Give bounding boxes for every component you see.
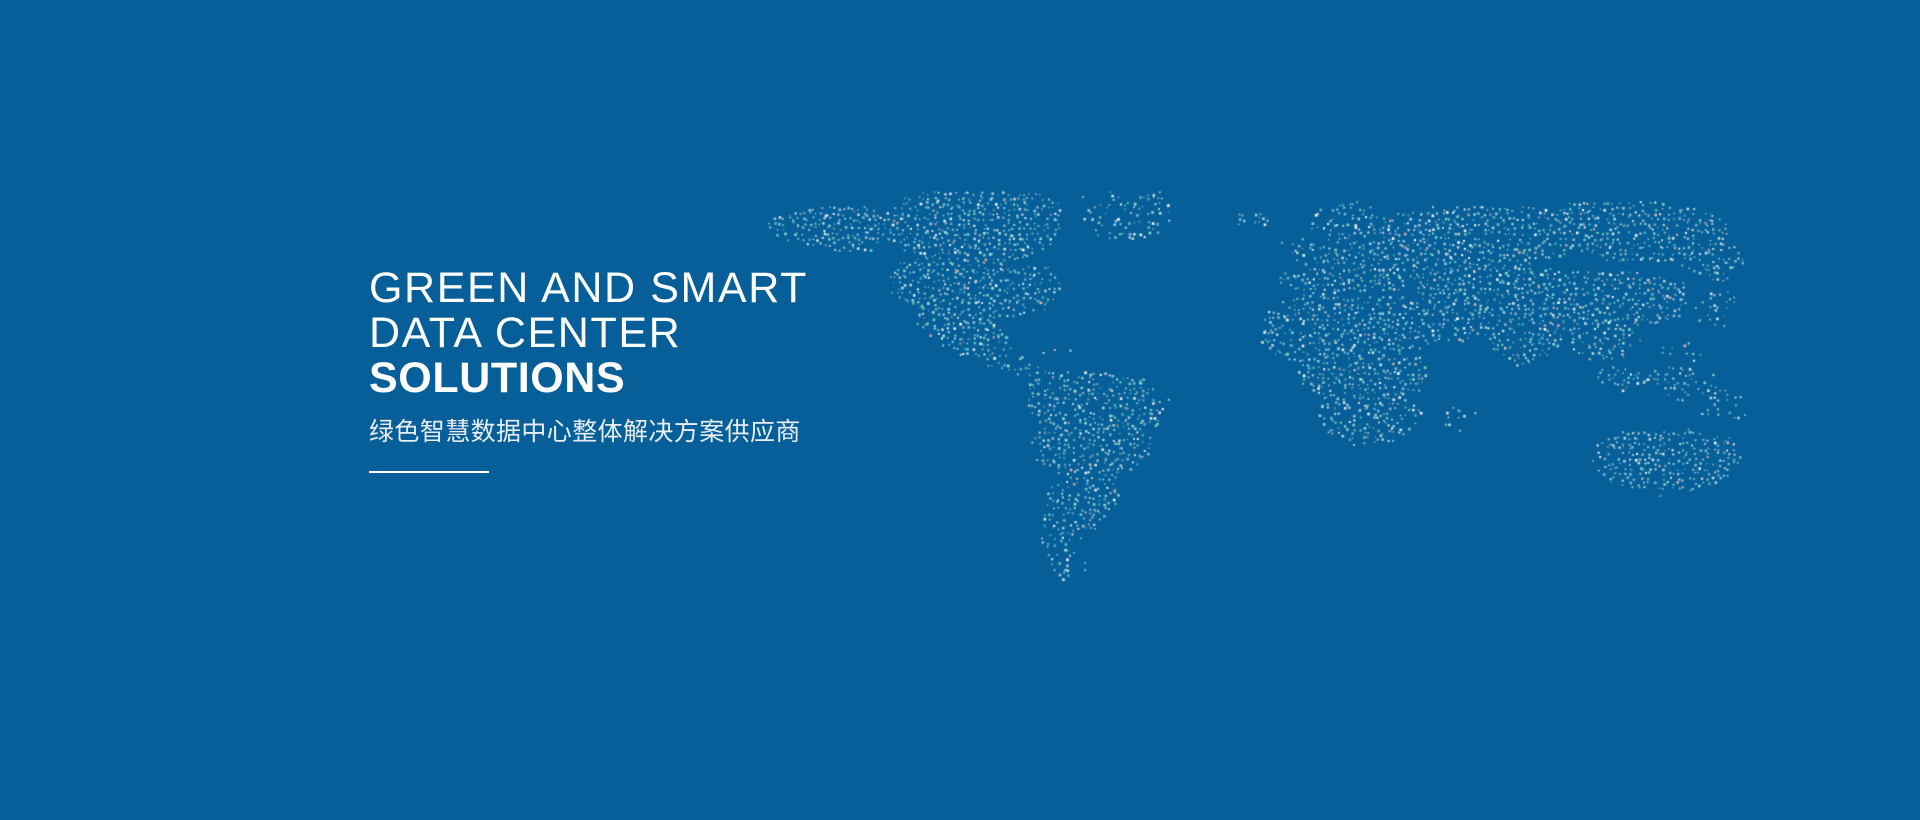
hero-banner: GREEN AND SMART DATA CENTER SOLUTIONS 绿色… (0, 0, 1920, 820)
accent-rule (369, 471, 489, 473)
headline-block: GREEN AND SMART DATA CENTER SOLUTIONS 绿色… (369, 266, 1129, 473)
headline-line-2: DATA CENTER (369, 311, 1129, 356)
headline-line-1: GREEN AND SMART (369, 266, 1129, 311)
headline-line-3: SOLUTIONS (369, 356, 1129, 401)
subtitle-chinese: 绿色智慧数据中心整体解决方案供应商 (369, 417, 1129, 447)
